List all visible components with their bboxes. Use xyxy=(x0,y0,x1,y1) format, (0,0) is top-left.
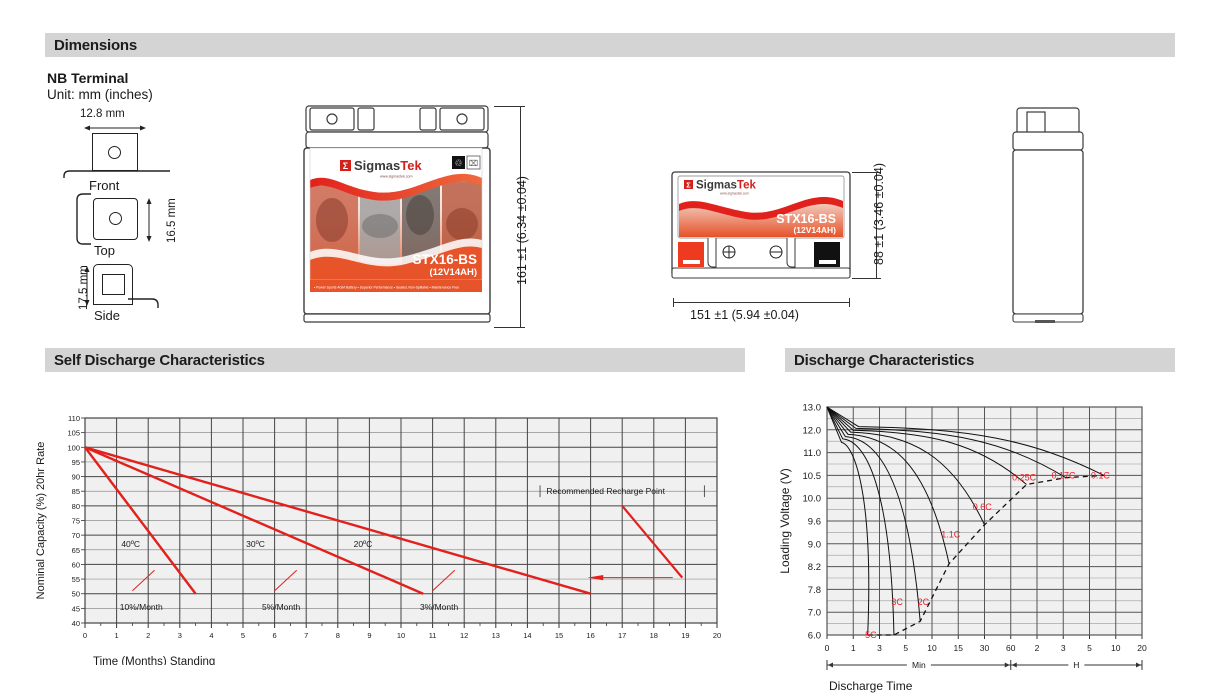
nb-terminal-heading: NB Terminal xyxy=(47,70,128,86)
y-axis-tick-label: 105 xyxy=(67,429,80,438)
terminal-front-caption: Front xyxy=(89,178,119,193)
y-axis-tick-label: 9.6 xyxy=(808,517,821,528)
y-axis-tick-label: 11.0 xyxy=(803,448,821,459)
terminal-width-arrow xyxy=(84,124,146,132)
svg-text:Σ: Σ xyxy=(686,181,691,190)
x-axis-tick-label: 3 xyxy=(877,643,882,653)
battery-height-ext-bottom xyxy=(494,327,522,328)
x-axis-tick-label: 11 xyxy=(429,631,437,640)
curve-label-1_1C: 1.1C xyxy=(941,529,961,539)
x-axis-tick-label: 8 xyxy=(336,631,340,640)
y-axis-tick-label: 100 xyxy=(67,443,80,452)
scale-arrow-hour-right xyxy=(1136,663,1141,668)
x-axis-tick-label: 60 xyxy=(1006,643,1016,653)
x-axis-tick-label: 6 xyxy=(273,631,277,640)
scale-label-min: Min xyxy=(912,660,926,670)
section-title-dimensions: Dimensions xyxy=(45,37,137,54)
x-axis-tick-label: 30 xyxy=(980,643,990,653)
y-axis-tick-label: 110 xyxy=(68,414,80,423)
x-axis-tick-label: 1 xyxy=(115,631,119,640)
y-axis-tick-label: 9.0 xyxy=(808,539,821,550)
annotation-label: 40ºC xyxy=(121,539,140,549)
terminal-top-base xyxy=(75,193,95,247)
x-axis-tick-label: 17 xyxy=(618,631,626,640)
battery-tagline: • Power Sports AGM Battery • Superior Pe… xyxy=(314,286,459,290)
front-dim-ext-bottom xyxy=(852,278,878,279)
y-axis-tick-label: 70 xyxy=(72,531,80,540)
x-axis-tick-label: 7 xyxy=(304,631,308,640)
curve-label-0_17C: 0.17C xyxy=(1051,470,1076,480)
battery-height-dim-label: 161 ±1 (6.34 ±0.04) xyxy=(515,176,529,285)
y-axis-tick-label: 60 xyxy=(72,560,80,569)
annotation-label: 30ºC xyxy=(246,539,265,549)
x-axis-tick-label: 5 xyxy=(903,643,908,653)
unit-label: Unit: mm (inches) xyxy=(47,87,153,102)
section-title-discharge: Discharge Characteristics xyxy=(785,352,974,369)
x-axis-tick-label: 2 xyxy=(146,631,150,640)
battery-brand-url: www.sigmastek.com xyxy=(380,175,413,179)
battery-end-view xyxy=(1005,100,1105,330)
x-axis-tick-label: 12 xyxy=(460,631,468,640)
battery-front-view: Σ SigmasTek www.sigmastek.com STX16-BS (… xyxy=(668,168,858,293)
x-axis-tick-label: 13 xyxy=(492,631,500,640)
x-axis-tick-label: 19 xyxy=(681,631,689,640)
y-axis-tick-label: 13.0 xyxy=(803,403,822,414)
scale-arrow-min-right xyxy=(1005,663,1010,668)
battery-front-height-dim-label: 88 ±1 (3.46 ±0.04) xyxy=(872,163,886,265)
annotation-label: 3%/Month xyxy=(420,602,459,612)
y-axis-tick-label: 75 xyxy=(72,517,80,526)
x-axis-tick-label: 4 xyxy=(209,631,213,640)
annotation-label: 20ºC xyxy=(354,539,373,549)
x-axis-tick-label: 18 xyxy=(650,631,658,640)
battery-width-dim-label: 151 ±1 (5.94 ±0.04) xyxy=(690,308,799,322)
x-axis-title: Discharge Time xyxy=(829,679,913,693)
terminal-side-inner xyxy=(102,274,125,295)
battery-model: STX16-BS xyxy=(412,252,477,267)
terminal-width-label: 12.8 mm xyxy=(80,108,125,120)
x-axis-tick-label: 10 xyxy=(927,643,937,653)
y-axis-tick-label: 95 xyxy=(72,458,80,467)
x-axis-tick-label: 15 xyxy=(954,643,964,653)
x-axis-title: Time (Months) Standing xyxy=(93,656,215,665)
annotation-label: 5%/Month xyxy=(262,602,301,612)
terminal-side-caption: Side xyxy=(94,308,120,323)
section-header-dimensions: Dimensions xyxy=(45,33,1175,57)
y-axis-tick-label: 8.2 xyxy=(808,562,821,573)
x-axis-tick-label: 2 xyxy=(1035,643,1040,653)
terminal-depth-arrow xyxy=(145,198,154,242)
x-axis-tick-label: 15 xyxy=(555,631,563,640)
self-discharge-chart: 4045505560657075808590951001051100123456… xyxy=(30,400,740,665)
section-title-self-discharge: Self Discharge Characteristics xyxy=(45,352,265,369)
y-axis-tick-label: 45 xyxy=(72,604,80,613)
section-header-discharge: Discharge Characteristics xyxy=(785,348,1175,372)
discharge-chart: 13.012.011.010.510.09.69.08.27.87.06.001… xyxy=(775,395,1195,695)
x-axis-tick-label: 0 xyxy=(825,643,830,653)
svg-text:STX16-BS: STX16-BS xyxy=(776,212,836,226)
terminal-side-base xyxy=(128,296,164,310)
y-axis-tick-label: 7.0 xyxy=(808,608,821,619)
svg-text:SigmasTek: SigmasTek xyxy=(696,180,756,192)
terminal-front-hole xyxy=(108,146,121,159)
width-dim-tick-right xyxy=(849,298,850,307)
terminal-top-hole xyxy=(109,212,122,225)
annotation-recommended-recharge-point: Recommended Recharge Point xyxy=(546,486,665,496)
scale-arrow-hour-left xyxy=(1012,663,1017,668)
x-axis-tick-label: 5 xyxy=(241,631,245,640)
y-axis-tick-label: 12.0 xyxy=(803,425,822,436)
x-axis-tick-label: 20 xyxy=(1137,643,1147,653)
y-axis-tick-label: 50 xyxy=(72,590,80,599)
battery-brand: SigmasTek xyxy=(354,158,422,173)
section-header-self-discharge: Self Discharge Characteristics xyxy=(45,348,745,372)
curve-label-0_25C: 0.25C xyxy=(1012,473,1037,483)
annotation-label: 10%/Month xyxy=(120,602,163,612)
svg-text:www.sigmastek.com: www.sigmastek.com xyxy=(720,192,749,196)
y-axis-tick-label: 7.8 xyxy=(808,585,821,596)
x-axis-tick-label: 14 xyxy=(523,631,531,640)
curve-label-2C: 2C xyxy=(918,597,930,607)
y-axis-title: Loading Voltage (V) xyxy=(778,468,792,573)
svg-text:♲: ♲ xyxy=(454,158,462,168)
y-axis-tick-label: 40 xyxy=(72,619,80,628)
x-axis-tick-label: 0 xyxy=(83,631,87,640)
x-axis-tick-label: 20 xyxy=(713,631,721,640)
curve-label-3C: 3C xyxy=(891,597,903,607)
x-axis-tick-label: 3 xyxy=(1061,643,1066,653)
curve-label-0_6C: 0.6C xyxy=(973,502,993,512)
battery-height-ext-top xyxy=(494,106,522,107)
battery-width-dim-line xyxy=(673,302,850,303)
x-axis-tick-label: 9 xyxy=(367,631,371,640)
y-axis-tick-label: 85 xyxy=(72,487,80,496)
terminal-depth-label: 16.5 mm xyxy=(166,198,178,243)
width-dim-tick-left xyxy=(673,298,674,307)
y-axis-tick-label: 10.0 xyxy=(803,494,822,505)
x-axis-tick-label: 16 xyxy=(586,631,594,640)
y-axis-tick-label: 55 xyxy=(72,575,80,584)
y-axis-title: Nominal Capacity (%) 20hr Rate xyxy=(35,442,47,600)
terminal-top-caption: Top xyxy=(94,243,115,258)
battery-side-view: Σ SigmasTek www.sigmastek.com ♲ ⌧ STX16-… xyxy=(296,100,511,330)
y-axis-tick-label: 80 xyxy=(72,502,80,511)
curve-label-5C: 5C xyxy=(865,630,877,640)
x-axis-tick-label: 1 xyxy=(851,643,856,653)
scale-label-hour: H xyxy=(1073,660,1079,670)
x-axis-tick-label: 5 xyxy=(1087,643,1092,653)
battery-capacity: (12V14AH) xyxy=(429,267,477,278)
svg-text:Σ: Σ xyxy=(343,161,349,171)
y-axis-tick-label: 6.0 xyxy=(808,631,821,642)
x-axis-tick-label: 3 xyxy=(178,631,182,640)
x-axis-tick-label: 10 xyxy=(1111,643,1121,653)
svg-text:⌧: ⌧ xyxy=(469,159,478,168)
svg-text:(12V14AH): (12V14AH) xyxy=(793,225,836,235)
terminal-height-label: 17.5 mm xyxy=(78,265,90,310)
x-axis-tick-label: 10 xyxy=(397,631,405,640)
curve-label-0_1C: 0.1C xyxy=(1091,470,1111,480)
scale-arrow-min-left xyxy=(828,663,833,668)
y-axis-tick-label: 65 xyxy=(72,546,80,555)
y-axis-tick-label: 90 xyxy=(72,473,80,482)
y-axis-tick-label: 10.5 xyxy=(803,471,822,482)
